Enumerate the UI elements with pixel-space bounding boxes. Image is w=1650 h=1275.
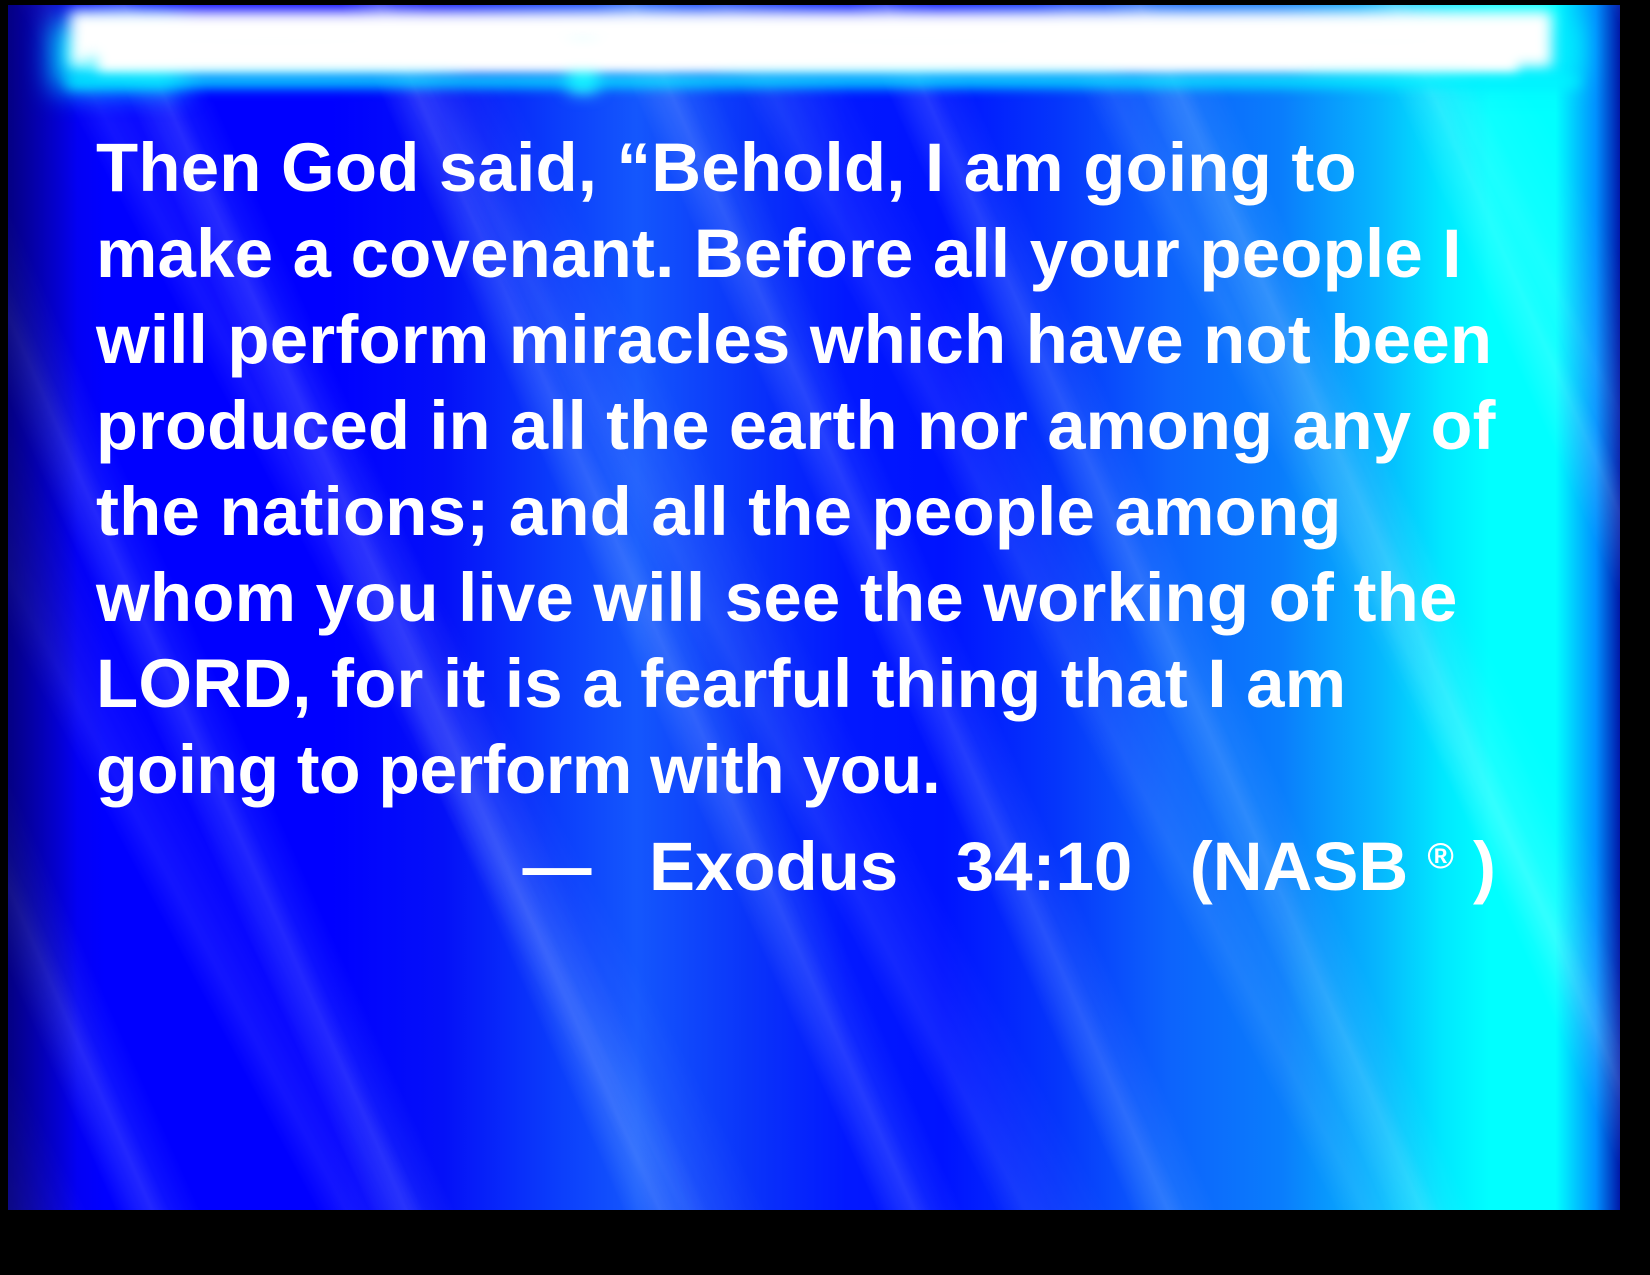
glow-white-bar-inner	[98, 35, 1518, 73]
attribution-translation: (NASB	[1190, 828, 1409, 905]
verse-text-block: Then God said, “Behold, I am going to ma…	[96, 125, 1496, 813]
registered-trademark-icon: ®	[1427, 836, 1453, 876]
top-glow-band	[8, 5, 1620, 97]
attribution-paren-close: )	[1473, 828, 1496, 905]
verse-line: the nations; and all the people among	[96, 469, 1496, 555]
verse-line: going to perform with you.	[96, 727, 1475, 813]
verse-line: make a covenant. Before all your people …	[96, 211, 1496, 297]
verse-line: LORD, for it is a fearful thing that I a…	[96, 641, 1496, 727]
attribution-book: Exodus	[649, 828, 898, 905]
attribution-dash: —	[522, 828, 591, 905]
verse-attribution: — Exodus 34:10 (NASB ® )	[96, 813, 1496, 910]
verse-line: Then God said, “Behold, I am going to	[96, 125, 1496, 211]
verse-line: whom you live will see the working of th…	[96, 555, 1496, 641]
verse-slide: Then God said, “Behold, I am going to ma…	[8, 5, 1620, 1210]
background-left-shadow	[8, 5, 78, 1210]
slide-canvas: Then God said, “Behold, I am going to ma…	[0, 0, 1650, 1275]
verse-line: will perform miracles which have not bee…	[96, 297, 1496, 383]
glow-cyan-underline	[68, 77, 1578, 87]
verse-line: produced in all the earth nor among any …	[96, 383, 1488, 469]
attribution-reference: 34:10	[956, 828, 1132, 905]
